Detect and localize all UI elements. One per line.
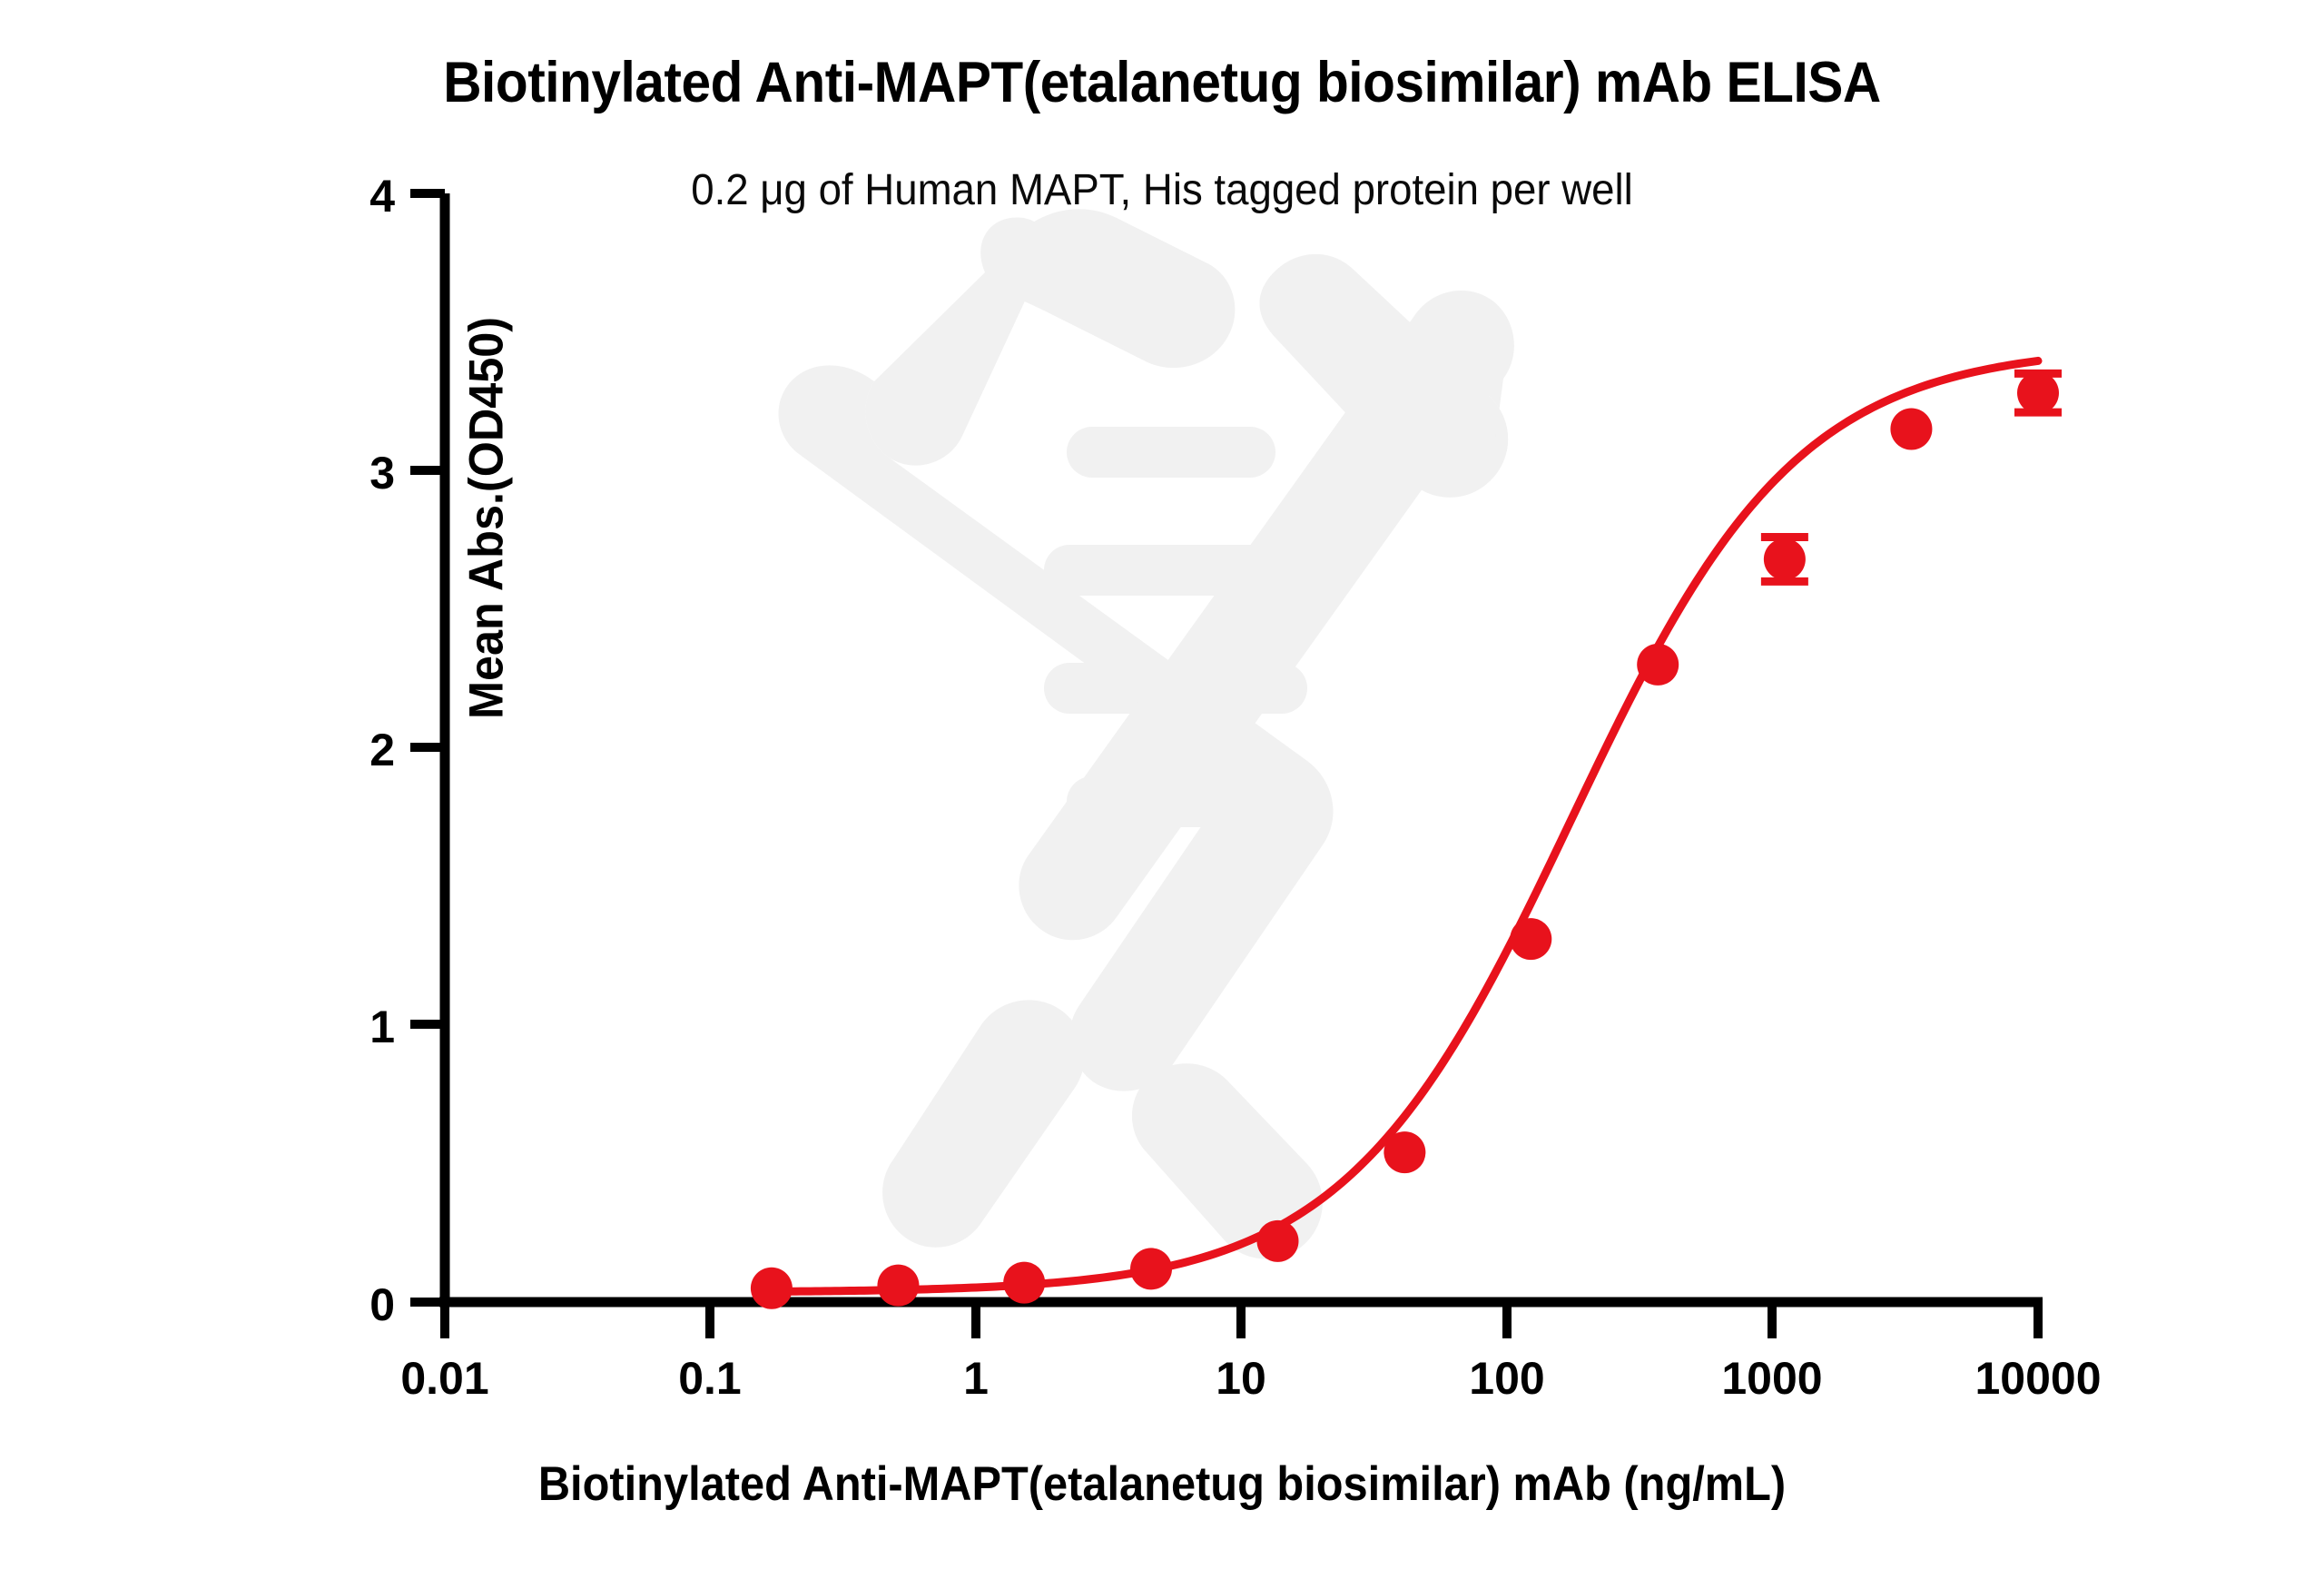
x-axis-ticks: 0.01 0.1 1 10 100 1000 10000 — [400, 1302, 2101, 1404]
dna-helix-watermark — [779, 209, 1514, 1258]
y-tick-label-4: 4 — [369, 171, 395, 222]
data-point — [1637, 644, 1679, 686]
y-tick-label-0: 0 — [369, 1279, 395, 1330]
plot-area: 4 3 2 1 0 0.01 0.1 1 10 100 1000 10000 — [0, 0, 2324, 1589]
data-point — [877, 1265, 919, 1307]
x-tick-label-1: 0.1 — [678, 1353, 742, 1404]
x-tick-label-4: 100 — [1469, 1353, 1544, 1404]
y-tick-label-2: 2 — [369, 725, 395, 775]
x-tick-label-3: 10 — [1216, 1353, 1266, 1404]
y-tick-label-1: 1 — [369, 1002, 395, 1052]
data-point — [751, 1268, 793, 1309]
data-point — [1003, 1262, 1045, 1304]
data-point — [1510, 918, 1551, 960]
x-tick-label-2: 1 — [963, 1353, 989, 1404]
data-point — [1256, 1220, 1298, 1262]
data-point — [2017, 372, 2059, 414]
y-axis-ticks: 4 3 2 1 0 — [369, 171, 445, 1330]
data-point — [1130, 1248, 1172, 1289]
x-tick-label-5: 1000 — [1721, 1353, 1822, 1404]
data-point — [1384, 1131, 1425, 1173]
x-tick-label-6: 10000 — [1974, 1353, 2101, 1404]
data-point — [1764, 538, 1806, 580]
x-tick-label-0: 0.01 — [400, 1353, 488, 1404]
data-point — [1890, 408, 1932, 449]
y-tick-label-3: 3 — [369, 448, 395, 498]
elisa-chart-figure: Biotinylated Anti-MAPT(etalanetug biosim… — [0, 0, 2324, 1589]
